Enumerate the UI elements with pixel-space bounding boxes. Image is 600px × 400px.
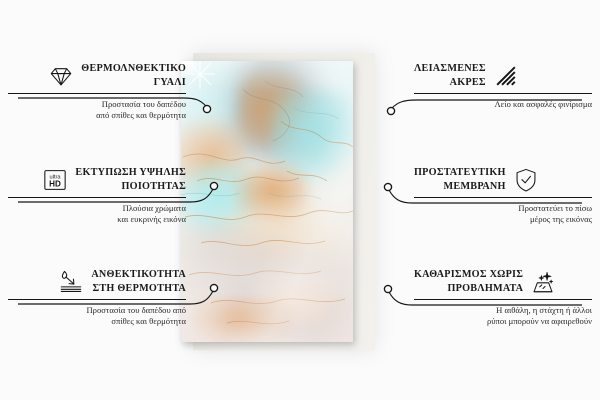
- feature-polished-edges: ΛΕΙΑΣΜΕΝΕΣ ΑΚΡΕΣ Λείο και ασφαλές φινίρι…: [414, 62, 592, 110]
- connector-dot-right-1: [387, 107, 394, 114]
- feature-heat-resistant-glass: ΘΕΡΜΟΛΝΘΕΚΤΙΚΟ ΓΥΑΛΙ Προστασία του δαπέδ…: [8, 62, 186, 121]
- feature-description: Προστατεύει το πίσω μέρος της εικόνας: [414, 203, 592, 225]
- abstract-ink-artwork: [181, 61, 353, 342]
- feature-header: ΘΕΡΜΟΛΝΘΕΚΤΙΚΟ ΓΥΑΛΙ: [8, 62, 186, 89]
- divider: [8, 299, 186, 300]
- feature-title: ΑΝΘΕΚΤΙΚΟΤΗΤΑ ΣΤΗ ΘΕΡΜΟΤΗΤΑ: [91, 268, 186, 295]
- sponge-sparkle-icon: [530, 269, 556, 295]
- feature-heat-durability: ΑΝΘΕΚΤΙΚΟΤΗΤΑ ΣΤΗ ΘΕΡΜΟΤΗΤΑ Προστασία το…: [8, 268, 186, 327]
- ink-vein-lines: [181, 61, 353, 342]
- divider: [414, 299, 592, 300]
- divider: [8, 197, 186, 198]
- diamond-icon: [48, 63, 74, 89]
- flame-deflect-icon: [58, 269, 84, 295]
- product-panel: [181, 53, 375, 350]
- feature-description: Προστασία του δαπέδου από σπίθες και θερ…: [8, 99, 186, 121]
- feature-header: ΠΡΟΣΤΑΤΕΥΤΙΚΗ ΜΕΜΒΡΑΝΗ: [414, 166, 592, 193]
- feature-header: ΚΑΘΑΡΙΣΜΟΣ ΧΩΡΙΣ ΠΡΟΒΛΗΜΑΤΑ: [414, 268, 592, 295]
- polished-edges-icon: [493, 63, 519, 89]
- connector-dot-right-3: [384, 285, 391, 292]
- feature-easy-cleaning: ΚΑΘΑΡΙΣΜΟΣ ΧΩΡΙΣ ΠΡΟΒΛΗΜΑΤΑ Η αιθάλη, η …: [414, 268, 592, 327]
- glass-artwork-image: [181, 61, 353, 342]
- infographic-canvas: ΘΕΡΜΟΛΝΘΕΚΤΙΚΟ ΓΥΑΛΙ Προστασία του δαπέδ…: [0, 0, 600, 400]
- feature-title: ΕΚΤΥΠΩΣΗ ΥΨΗΛΗΣ ΠΟΙΟΤΗΤΑΣ: [75, 166, 186, 193]
- feature-title: ΚΑΘΑΡΙΣΜΟΣ ΧΩΡΙΣ ΠΡΟΒΛΗΜΑΤΑ: [414, 268, 523, 295]
- feature-protective-membrane: ΠΡΟΣΤΑΤΕΥΤΙΚΗ ΜΕΜΒΡΑΝΗ Προστατεύει το πί…: [414, 166, 592, 225]
- feature-description: Πλούσια χρώματα και ευκρινής εικόνα: [8, 203, 186, 225]
- connector-dot-right-2: [384, 183, 391, 190]
- svg-text:HD: HD: [50, 179, 62, 188]
- feature-header: ΑΝΘΕΚΤΙΚΟΤΗΤΑ ΣΤΗ ΘΕΡΜΟΤΗΤΑ: [8, 268, 186, 295]
- divider: [414, 93, 592, 94]
- feature-header: ultra HD ΕΚΤΥΠΩΣΗ ΥΨΗΛΗΣ ΠΟΙΟΤΗΤΑΣ: [8, 166, 186, 193]
- feature-high-quality-print: ultra HD ΕΚΤΥΠΩΣΗ ΥΨΗΛΗΣ ΠΟΙΟΤΗΤΑΣ Πλούσ…: [8, 166, 186, 225]
- feature-header: ΛΕΙΑΣΜΕΝΕΣ ΑΚΡΕΣ: [414, 62, 592, 89]
- feature-description: Προστασία του δαπέδου από σπίθες και θερ…: [8, 305, 186, 327]
- feature-description: Η αιθάλη, η στάχτη ή άλλοι ρύποι μπορούν…: [414, 305, 592, 327]
- ultra-hd-badge-icon: ultra HD: [42, 167, 68, 193]
- feature-description: Λείο και ασφαλές φινίρισμα: [414, 99, 592, 110]
- feature-title: ΘΕΡΜΟΛΝΘΕΚΤΙΚΟ ΓΥΑΛΙ: [81, 62, 186, 89]
- feature-title: ΛΕΙΑΣΜΕΝΕΣ ΑΚΡΕΣ: [414, 62, 486, 89]
- feature-title: ΠΡΟΣΤΑΤΕΥΤΙΚΗ ΜΕΜΒΡΑΝΗ: [414, 166, 506, 193]
- divider: [414, 197, 592, 198]
- divider: [8, 93, 186, 94]
- shield-check-icon: [513, 167, 539, 193]
